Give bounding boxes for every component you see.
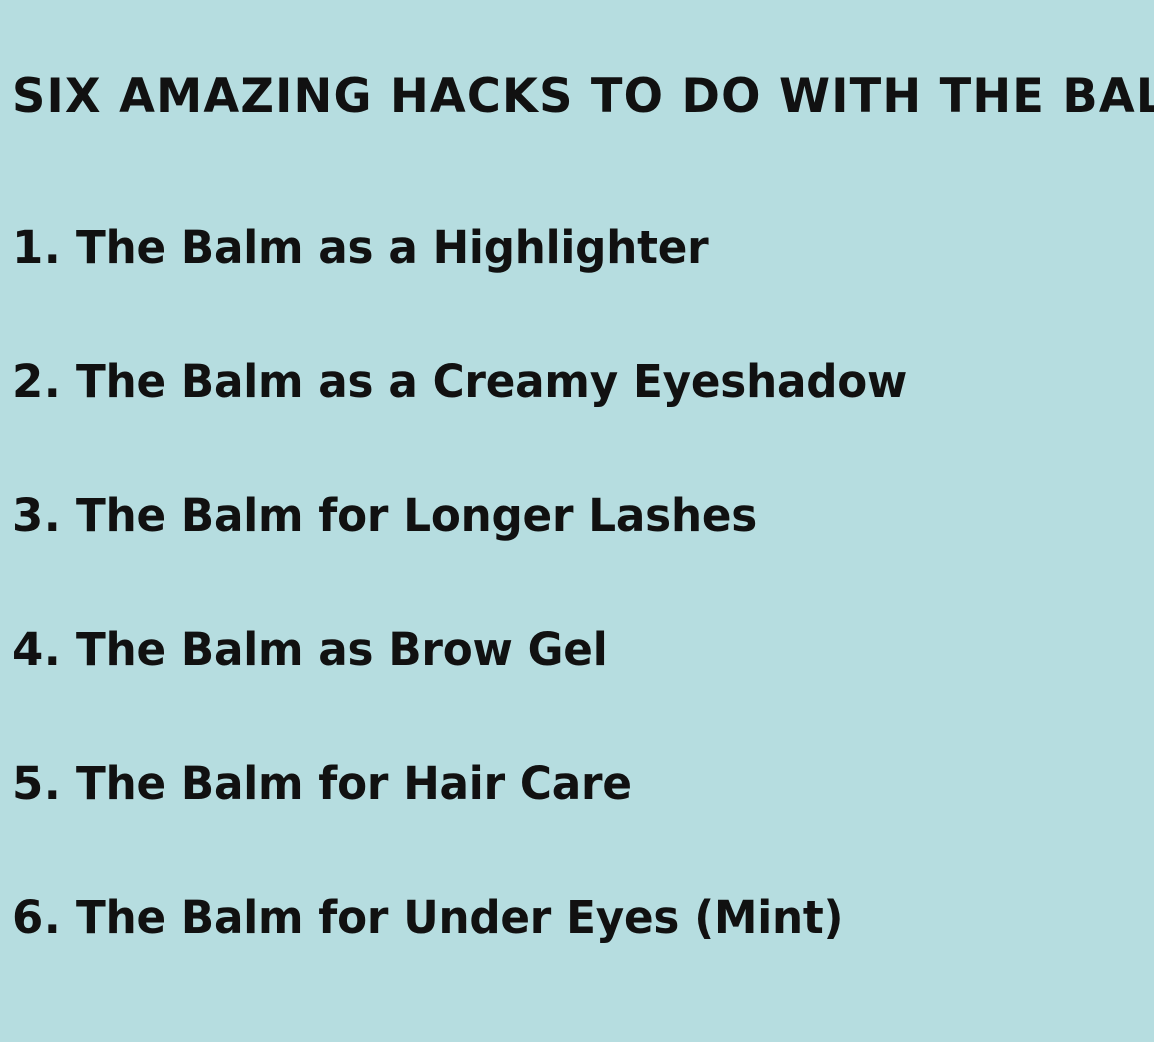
list-item-label: The Balm as Brow Gel: [76, 618, 607, 682]
page-title: SIX AMAZING HACKS TO DO WITH THE BALM:: [12, 73, 1130, 120]
list-item-number: 2.: [12, 350, 76, 414]
list-item-label: The Balm for Under Eyes (Mint): [76, 886, 843, 950]
list-item-label: The Balm for Hair Care: [76, 752, 632, 816]
list-item-number: 5.: [12, 752, 76, 816]
list-item-label: The Balm as a Creamy Eyeshadow: [76, 350, 907, 414]
list-item-label: The Balm for Longer Lashes: [76, 484, 757, 548]
balm-hacks-poster: SIX AMAZING HACKS TO DO WITH THE BALM: 1…: [0, 0, 1154, 1042]
list-item: 1. The Balm as a Highlighter: [0, 216, 1154, 350]
list-item-number: 6.: [12, 886, 76, 950]
list-item-number: 1.: [12, 216, 76, 280]
list-item-number: 3.: [12, 484, 76, 548]
list-item-number: 4.: [12, 618, 76, 682]
list-item: 5. The Balm for Hair Care: [0, 752, 1154, 886]
hacks-list: 1. The Balm as a Highlighter 2. The Balm…: [0, 216, 1154, 1020]
list-item: 2. The Balm as a Creamy Eyeshadow: [0, 350, 1154, 484]
list-item: 6. The Balm for Under Eyes (Mint): [0, 886, 1154, 1020]
list-item-label: The Balm as a Highlighter: [76, 216, 709, 280]
list-item: 4. The Balm as Brow Gel: [0, 618, 1154, 752]
list-item: 3. The Balm for Longer Lashes: [0, 484, 1154, 618]
